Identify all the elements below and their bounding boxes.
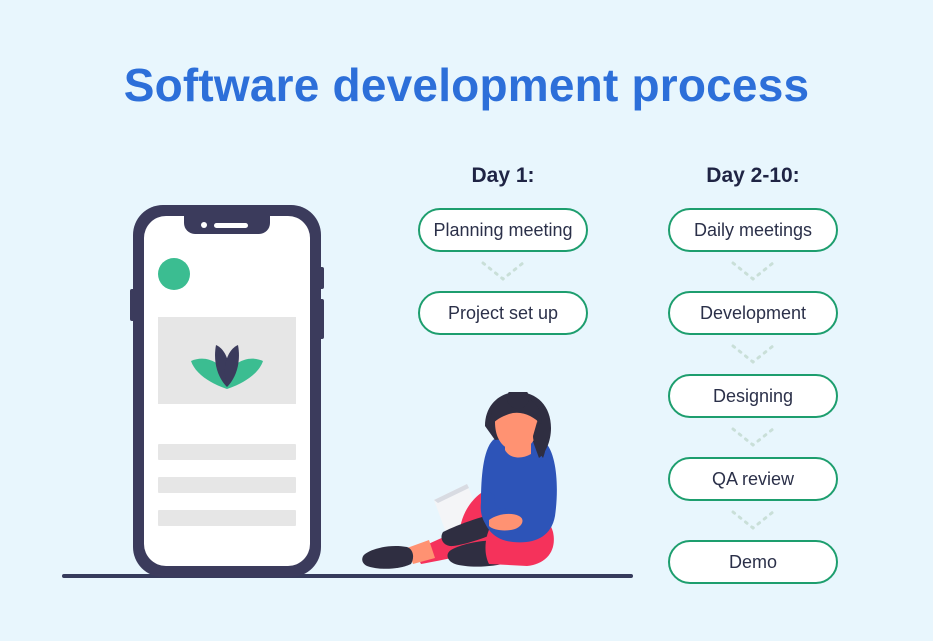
connector-chevron-icon — [730, 260, 776, 282]
lotus-flower-logo-icon — [189, 331, 265, 391]
step-pill-planning-meeting[interactable]: Planning meeting — [418, 208, 588, 252]
connector-chevron-icon — [480, 260, 526, 282]
person-shoe-left — [362, 546, 413, 569]
page-title: Software development process — [0, 58, 933, 112]
text-placeholder-bar — [158, 444, 296, 460]
phone-mute-button[interactable] — [130, 289, 134, 321]
step-pill-development[interactable]: Development — [668, 291, 838, 335]
text-placeholder-bar — [158, 510, 296, 526]
phone-power-button[interactable] — [320, 299, 324, 339]
smartphone-mockup — [133, 205, 321, 577]
step-pill-daily-meetings[interactable]: Daily meetings — [668, 208, 838, 252]
connector-chevron-icon — [730, 509, 776, 531]
front-camera-icon — [201, 222, 207, 228]
column-heading-day-2-10: Day 2-10: — [653, 164, 853, 188]
app-image-placeholder — [158, 317, 296, 404]
connector-chevron-icon — [730, 343, 776, 365]
text-placeholder-bar — [158, 477, 296, 493]
column-heading-day-1: Day 1: — [403, 164, 603, 188]
step-pill-project-set-up[interactable]: Project set up — [418, 291, 588, 335]
step-pill-qa-review[interactable]: QA review — [668, 457, 838, 501]
connector-chevron-icon — [730, 426, 776, 448]
infographic-canvas: Software development process Day 1: Day … — [0, 0, 933, 641]
step-pill-demo[interactable]: Demo — [668, 540, 838, 584]
person-with-laptop-illustration — [355, 392, 580, 578]
earpiece-speaker-icon — [214, 223, 248, 228]
phone-volume-up-button[interactable] — [320, 267, 324, 289]
step-pill-designing[interactable]: Designing — [668, 374, 838, 418]
phone-screen — [144, 216, 310, 566]
avatar — [158, 258, 190, 290]
phone-notch — [184, 216, 270, 234]
